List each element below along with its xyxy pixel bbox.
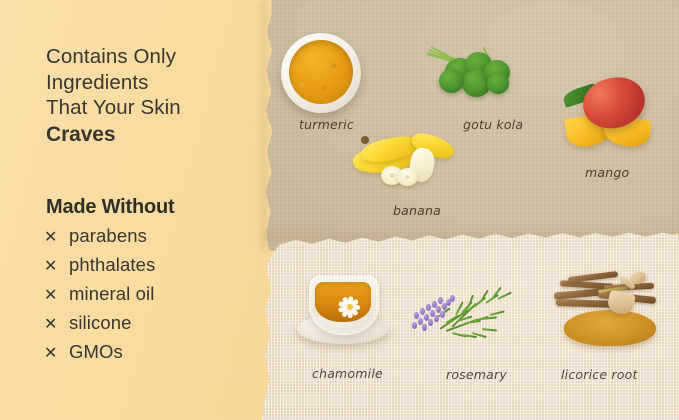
gotu-kola-leaves-icon [425,38,540,108]
without-item-label: parabens [69,225,147,247]
banana-stem-tip [361,136,369,144]
headline-line-1: Contains Only [46,45,176,68]
ingredient-label-mango: mango [585,165,629,180]
rosemary-sprig-icon [412,272,532,350]
chamomile-tea-liquid [315,282,371,322]
x-mark-icon: ✕ [44,227,56,247]
page-title: Contains Only Ingredients That Your Skin… [46,44,271,147]
without-item-label: GMOs [69,341,123,363]
ingredient-label-turmeric: turmeric [299,117,354,132]
turmeric-bowl-icon [281,33,361,113]
ingredient-label-rosemary: rosemary [446,367,507,382]
without-item-label: mineral oil [69,283,154,305]
list-item: ✕ mineral oil [44,283,155,312]
list-item: ✕ phthalates [44,254,155,283]
ingredient-label-chamomile: chamomile [312,366,383,381]
headline-emphasis: Craves [46,122,271,148]
list-item: ✕ GMOs [44,341,155,370]
x-mark-icon: ✕ [44,314,56,334]
x-mark-icon: ✕ [44,343,56,363]
list-item: ✕ parabens [44,225,155,254]
without-item-label: silicone [69,312,132,334]
x-mark-icon: ✕ [44,285,56,305]
banana-slice [397,168,418,186]
made-without-list: ✕ parabens ✕ phthalates ✕ mineral oil ✕ … [44,225,155,370]
ingredient-infographic: Contains Only Ingredients That Your Skin… [0,0,679,420]
without-item-label: phthalates [69,254,155,276]
headline-line-2: Ingredients [46,71,149,94]
banana-bunch-icon [353,130,458,192]
headline-line-3: That Your Skin [46,96,181,119]
made-without-heading: Made Without [46,196,175,219]
licorice-root-icon [546,268,668,350]
gotu-kola-leaf [487,73,509,94]
ingredient-label-gotu-kola: gotu kola [463,117,523,132]
turmeric-powder [289,40,353,104]
chamomile-flower-icon [337,296,363,318]
x-mark-icon: ✕ [44,256,56,276]
licorice-stick [568,271,618,283]
licorice-powder [564,310,656,346]
ingredient-label-licorice-root: licorice root [561,367,638,382]
gotu-kola-leaf [439,69,464,93]
ingredient-label-banana: banana [393,203,441,218]
list-item: ✕ silicone [44,312,155,341]
chamomile-tea-cup-icon [309,275,379,335]
